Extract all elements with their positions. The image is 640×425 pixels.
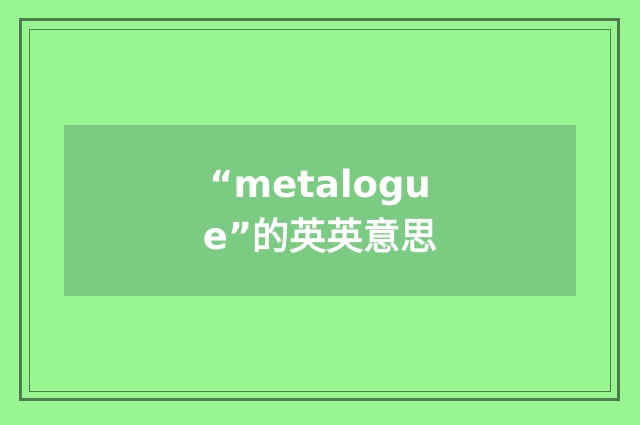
page-canvas: “metalogue”的英英意思 — [0, 0, 640, 425]
page-title: “metalogue”的英英意思 — [185, 159, 455, 261]
title-banner: “metalogue”的英英意思 — [64, 125, 576, 296]
